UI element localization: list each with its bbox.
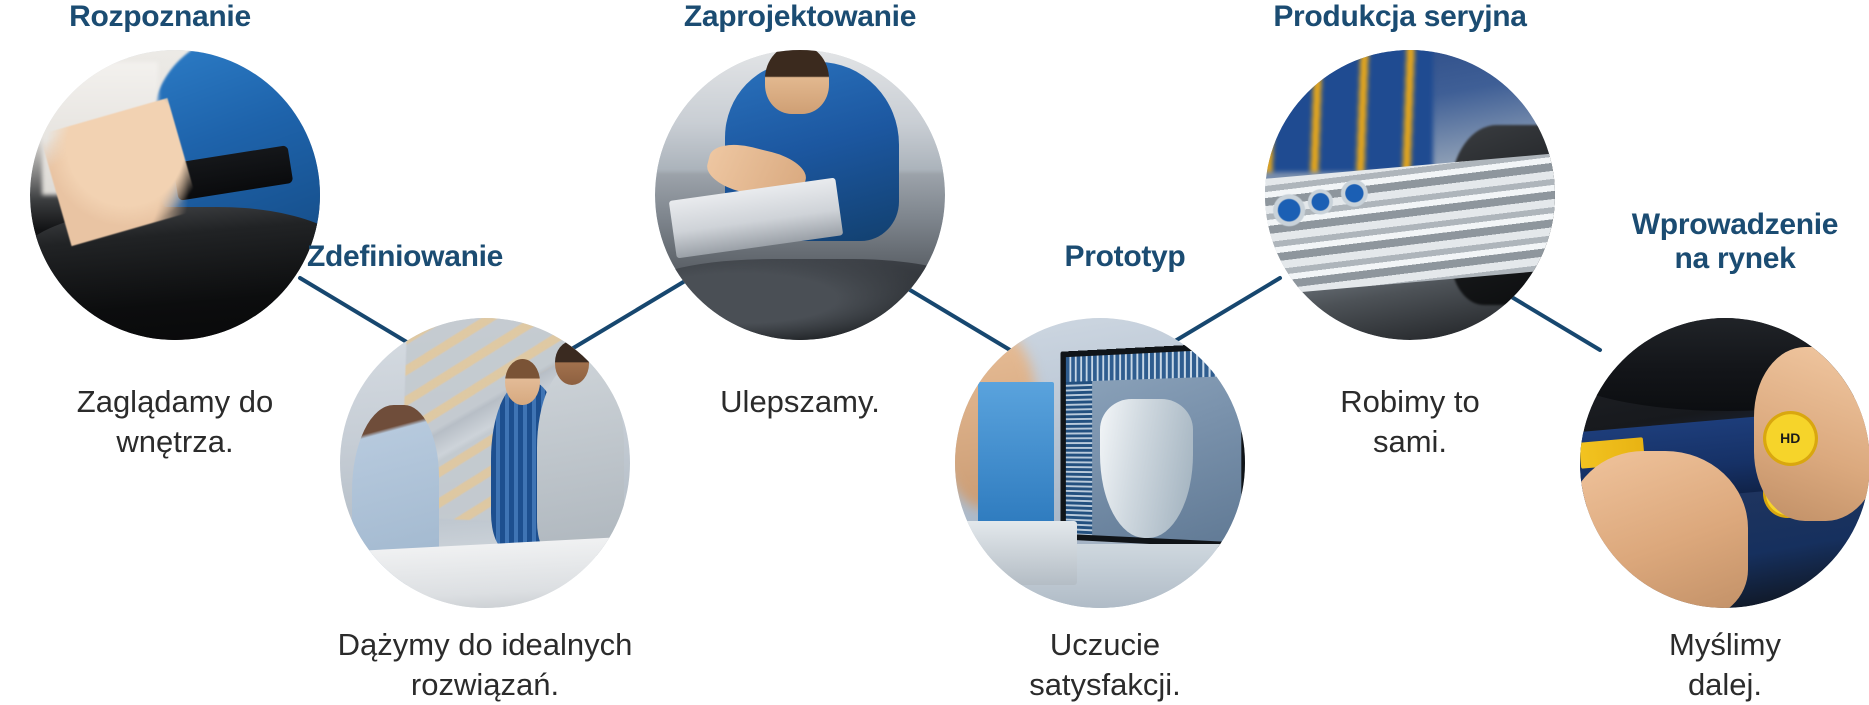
shock-absorbers-line-icon (1265, 50, 1555, 340)
step-6-caption: Myślimy dalej. (1600, 625, 1850, 704)
connector-4-5 (1160, 278, 1280, 350)
mechanic-with-laptop-icon (655, 50, 945, 340)
step-2-title: Zdefiniowanie (255, 240, 555, 274)
step-4-title: Prototyp (1000, 240, 1250, 274)
mechanic-with-tablet-icon (30, 50, 320, 340)
step-4-caption: Uczucie satysfakcji. (960, 625, 1250, 704)
step-3-title: Zaprojektowanie (650, 0, 950, 34)
step-1-image[interactable] (30, 50, 320, 340)
step-5-title: Produkcja seryjna (1235, 0, 1565, 34)
step-3-caption: Ulepszamy. (645, 382, 955, 422)
step-1-caption: Zaglądamy do wnętrza. (20, 382, 330, 461)
hd-sticker-upper: HD (1763, 411, 1818, 466)
step-4-image[interactable] (955, 318, 1245, 608)
step-6-image[interactable]: HD HD (1580, 318, 1869, 608)
step-3-image[interactable] (655, 50, 945, 340)
step-6-title: Wprowadzenie na rynek (1595, 208, 1869, 276)
step-1-title: Rozpoznanie (30, 0, 290, 34)
hand-applying-sticker-icon: HD HD (1580, 318, 1869, 608)
step-5-caption: Robimy to sami. (1265, 382, 1555, 461)
process-infographic: Rozpoznanie Zaglądamy do wnętrza. Zdefin… (0, 0, 1869, 705)
step-5-image[interactable] (1265, 50, 1555, 340)
engineering-team-icon (340, 318, 630, 608)
step-2-image[interactable] (340, 318, 630, 608)
step-2-caption: Dążymy do idealnych rozwiązań. (300, 625, 670, 704)
cad-3d-model-icon (955, 318, 1245, 608)
